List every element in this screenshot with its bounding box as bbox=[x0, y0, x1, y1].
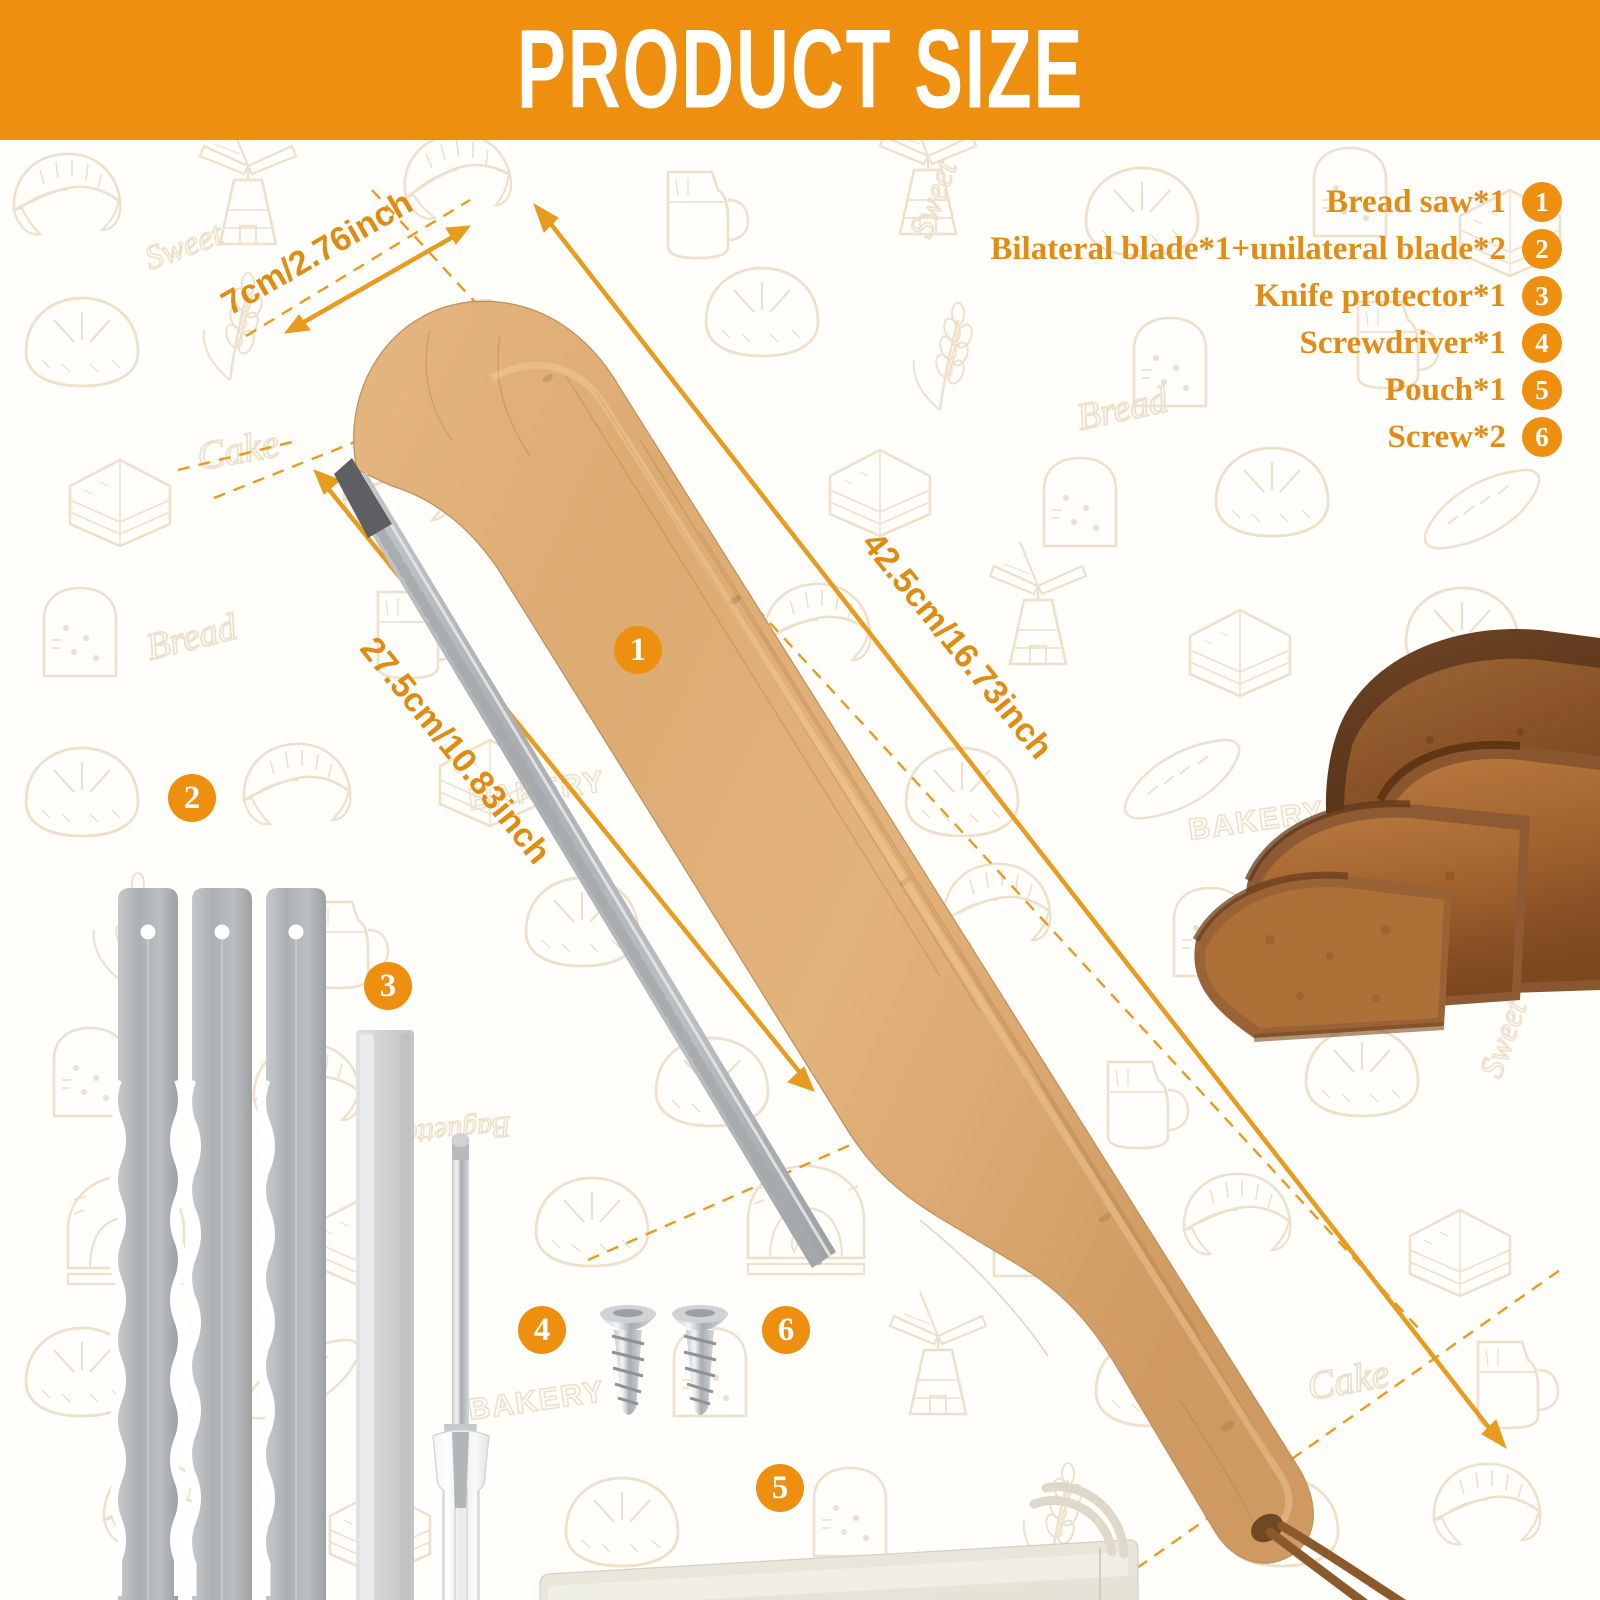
guide-blade-end bbox=[588, 1132, 880, 1260]
blade-unilateral-1 bbox=[188, 888, 253, 1600]
replacement-blades[interactable] bbox=[114, 888, 326, 1600]
callout-badge-3[interactable]: 3 bbox=[364, 962, 412, 1010]
callout-badge-2[interactable]: 2 bbox=[168, 774, 216, 822]
screws[interactable] bbox=[600, 1305, 728, 1415]
blade-unilateral-2 bbox=[262, 888, 327, 1600]
blade-bilateral bbox=[114, 888, 182, 1600]
saw-leather-strap bbox=[1270, 1526, 1500, 1600]
screwdriver[interactable] bbox=[433, 1133, 489, 1600]
header-banner: PRODUCT SIZE bbox=[0, 0, 1600, 140]
sliced-rye-bread-photo bbox=[1194, 629, 1600, 1038]
callout-badge-5[interactable]: 5 bbox=[756, 1464, 804, 1512]
screw-1 bbox=[600, 1305, 656, 1415]
guide-handle-bottom bbox=[214, 440, 360, 498]
guide-blade-start bbox=[178, 440, 300, 470]
callout-badge-1[interactable]: 1 bbox=[614, 626, 662, 674]
product-artwork bbox=[0, 140, 1600, 1600]
screwdriver-shaft bbox=[452, 1140, 469, 1430]
storage-pouch[interactable] bbox=[540, 1487, 1138, 1600]
callout-badge-4[interactable]: 4 bbox=[518, 1306, 566, 1354]
callout-badge-6[interactable]: 6 bbox=[762, 1306, 810, 1354]
knife-protector[interactable] bbox=[356, 1030, 414, 1600]
page-title: PRODUCT SIZE bbox=[516, 6, 1083, 134]
saw-handle-wood bbox=[354, 301, 1314, 1563]
infographic-canvas: Sweet Bread Cake Baguette BAKERY bbox=[0, 140, 1600, 1600]
screw-2 bbox=[672, 1305, 728, 1415]
product-size-infographic: PRODUCT SIZE bbox=[0, 0, 1600, 1600]
saw-blade-teeth bbox=[337, 486, 349, 804]
